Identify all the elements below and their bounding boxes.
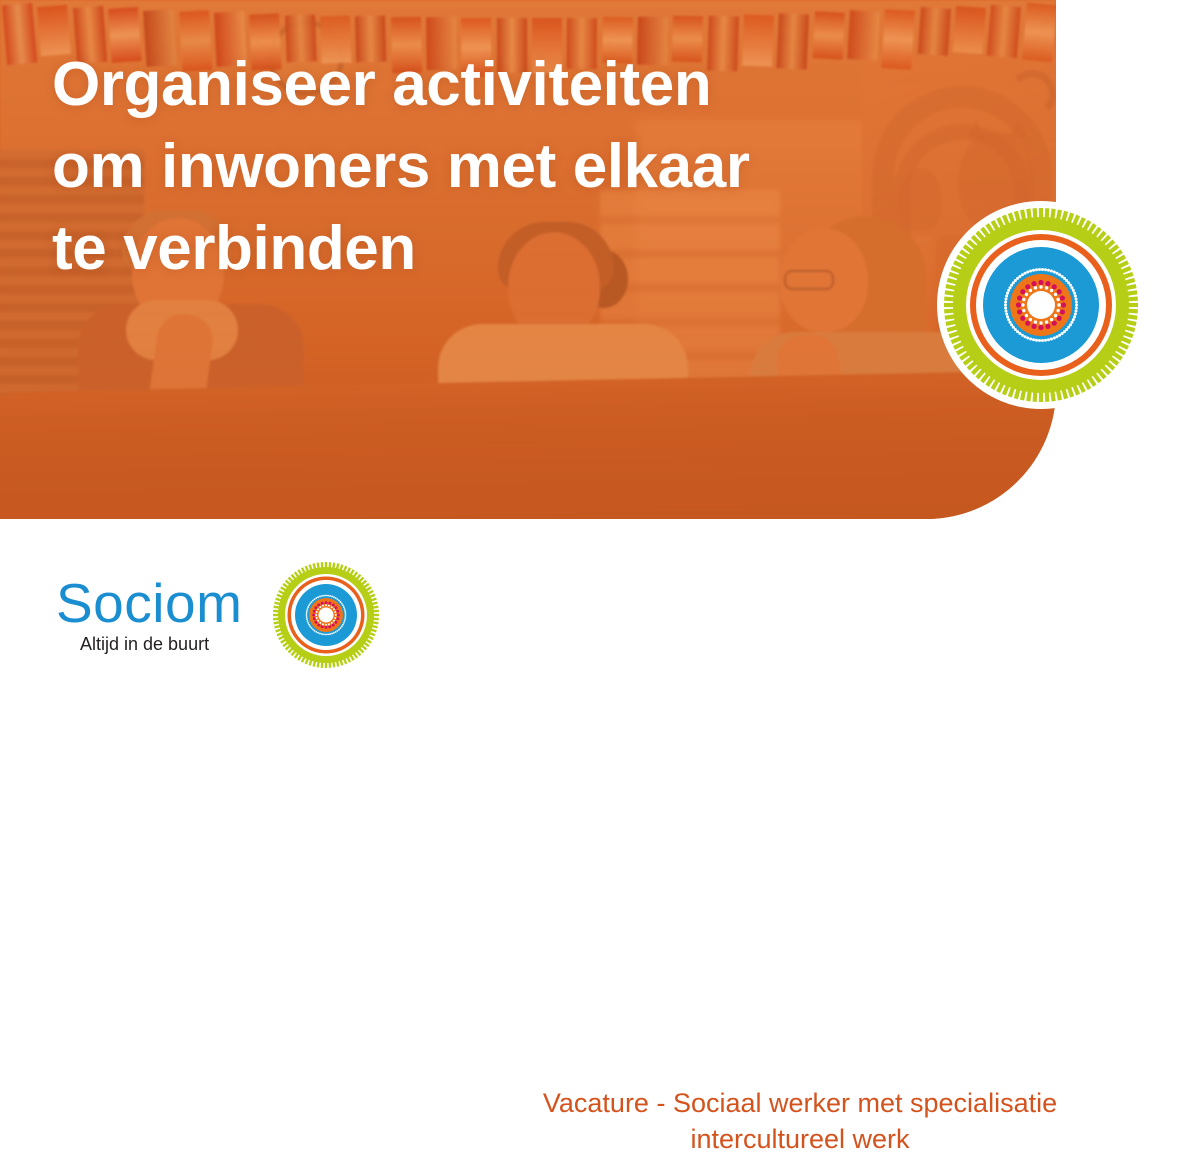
sociom-badge-large xyxy=(937,201,1145,409)
vacancy-title: Vacature - Sociaal werker met specialisa… xyxy=(470,1085,1130,1157)
brand-lockup[interactable]: Sociom Altijd in de buurt xyxy=(56,559,382,671)
footer-bar: Sociom Altijd in de buurt Vacature - Soc… xyxy=(0,519,1200,675)
sociom-wordmark: Sociom Altijd in de buurt xyxy=(56,575,242,655)
hero-banner: Organiseer activiteiten om inwoners met … xyxy=(0,0,1056,519)
brand-tagline: Altijd in de buurt xyxy=(80,633,209,655)
sociom-badge-small xyxy=(270,559,382,671)
page-title: Organiseer activiteiten om inwoners met … xyxy=(52,44,750,290)
brand-name: Sociom xyxy=(56,575,242,631)
